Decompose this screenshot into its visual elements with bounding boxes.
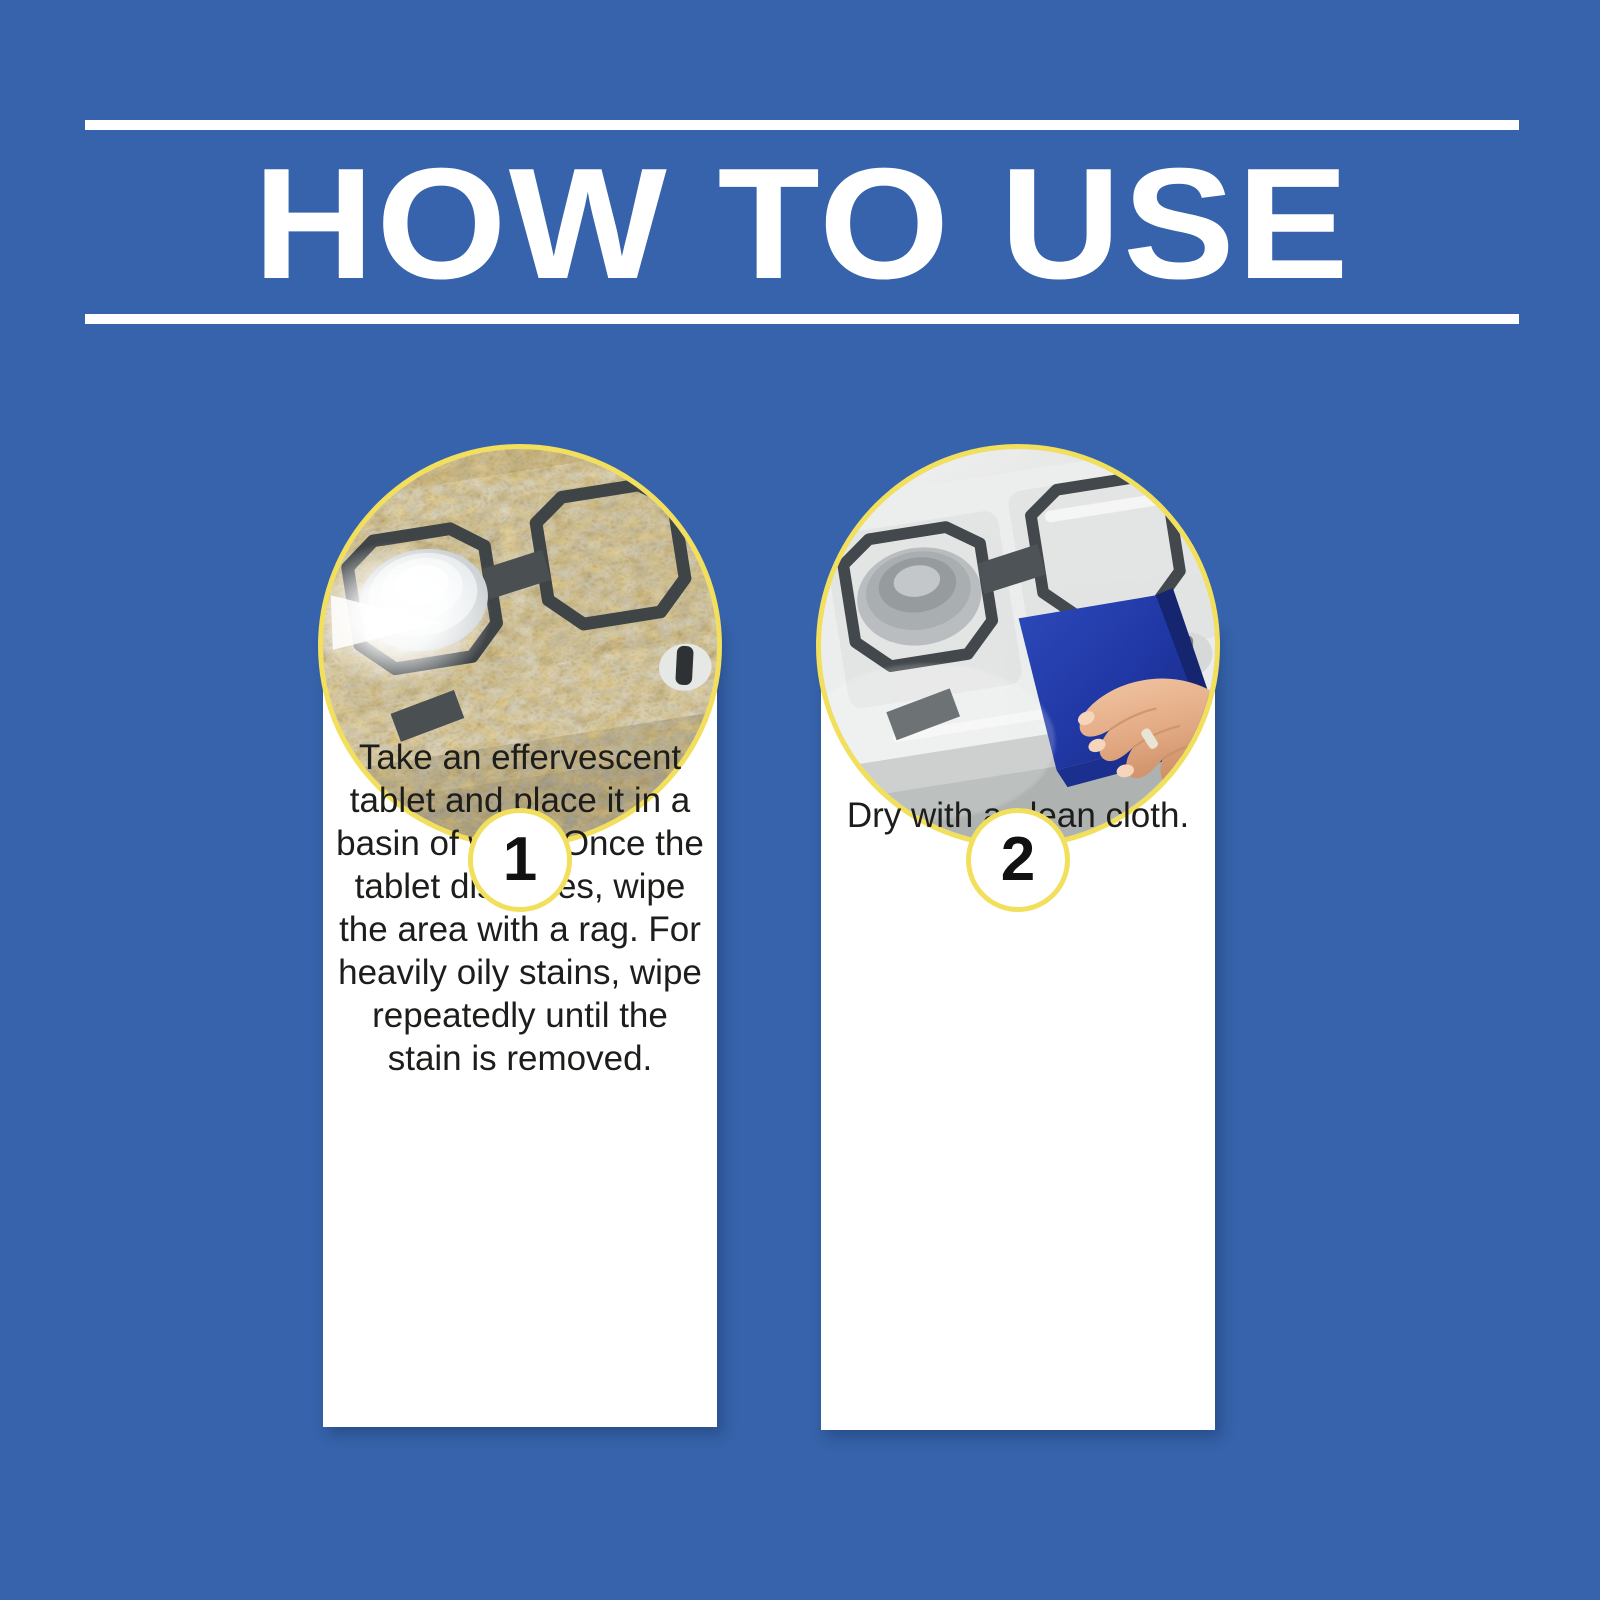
step-1-number: 1	[503, 829, 537, 891]
step-2-number-badge: 2	[966, 808, 1070, 912]
step-2-photo	[816, 444, 1220, 848]
steps-container: 1 Take an effervescent tablet and place …	[0, 444, 1600, 1444]
header-rule-top	[85, 120, 1519, 130]
step-2-number: 2	[1001, 829, 1035, 891]
page-title: HOW TO USE	[42, 130, 1562, 314]
clean-stovetop-wiping-illustration	[821, 449, 1215, 843]
header-rule-bottom	[85, 314, 1519, 324]
header: HOW TO USE	[85, 120, 1519, 324]
step-1-number-badge: 1	[468, 808, 572, 912]
step-2-photo-clip	[821, 449, 1215, 843]
